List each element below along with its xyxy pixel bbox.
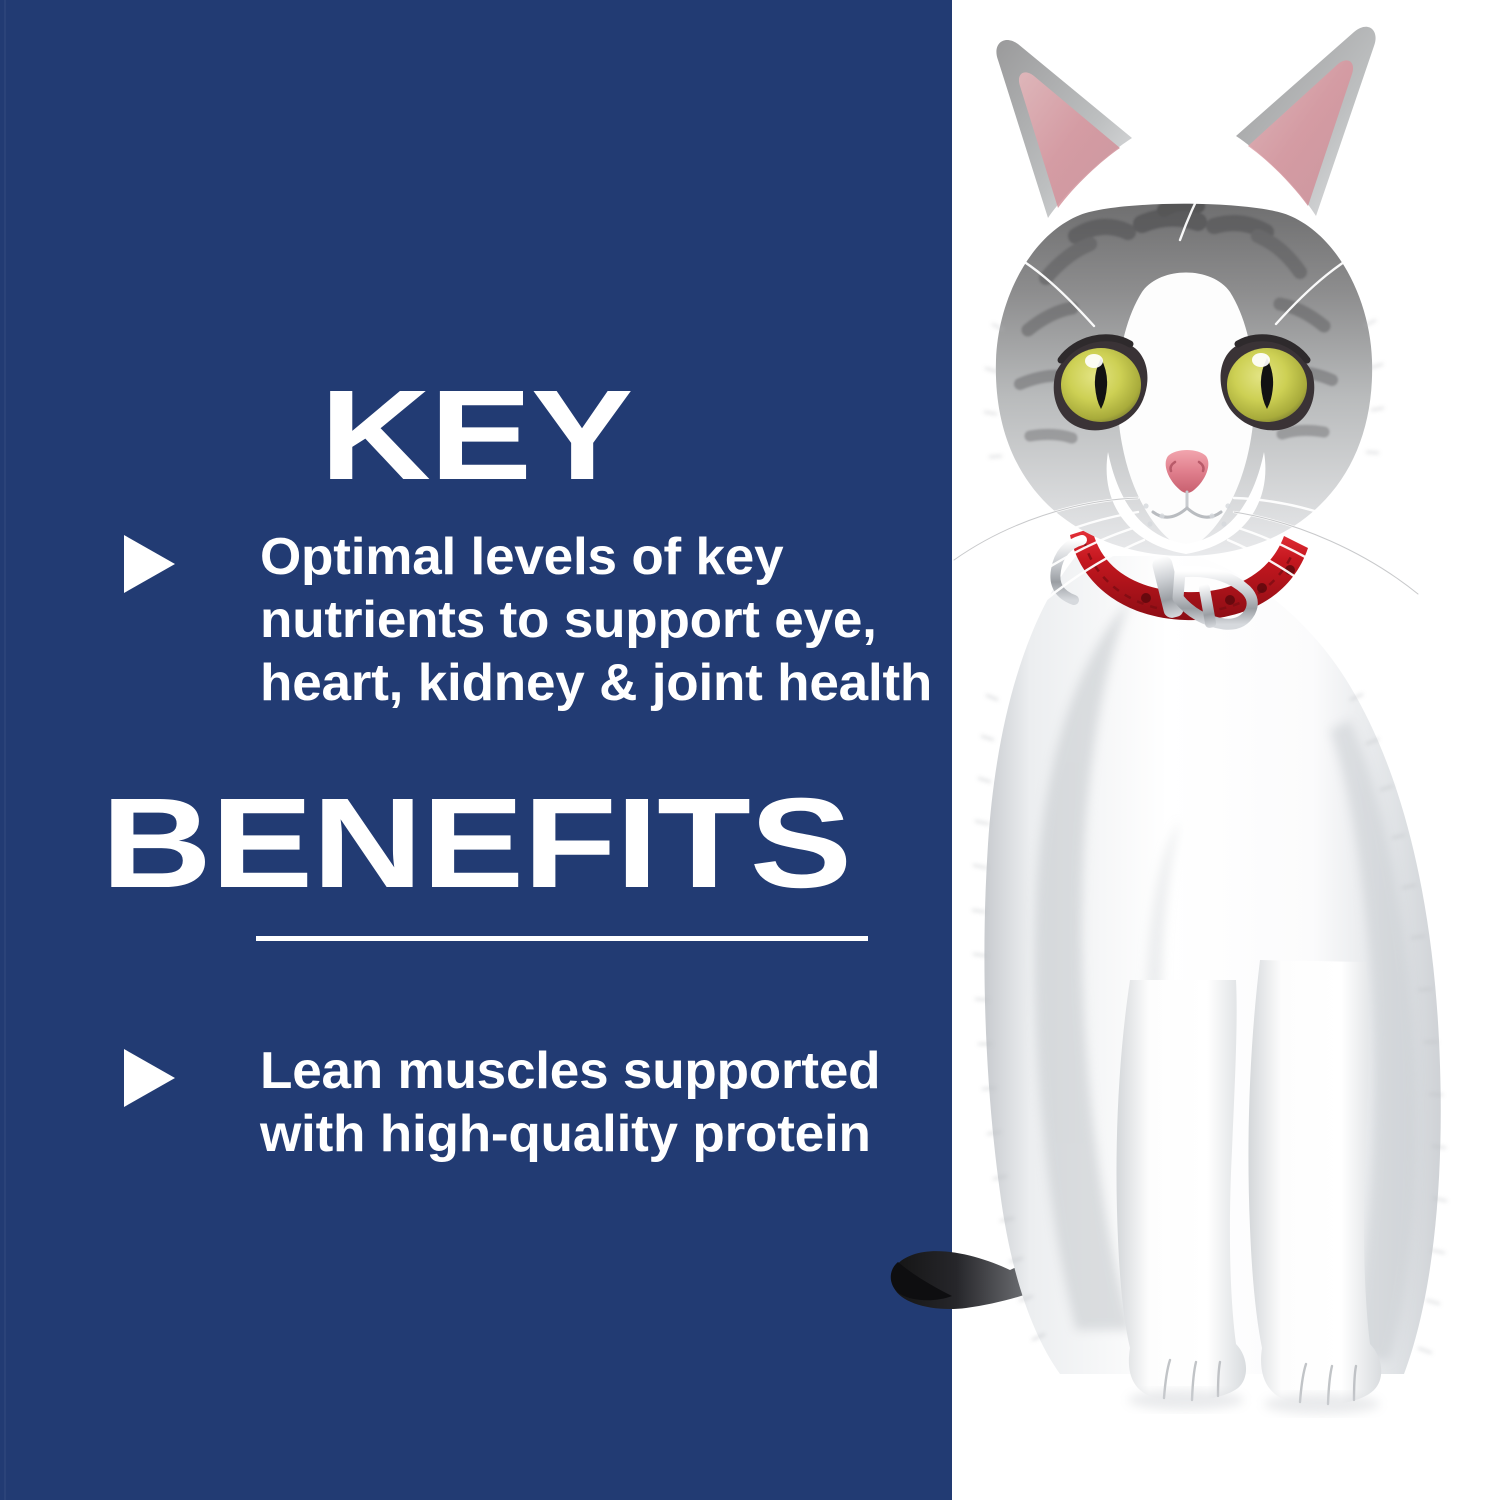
cat-front-legs — [1117, 960, 1382, 1414]
page-title-line-1: KEY — [0, 368, 1047, 504]
key-benefits-panel: KEY BENEFITS Optimal levels of key nutri… — [0, 0, 1500, 1500]
cat-neck — [1086, 448, 1292, 544]
divider — [256, 936, 868, 941]
benefit-item-label: Lean muscles supported with high-quality… — [260, 1040, 933, 1166]
cat-ear-right — [1236, 27, 1376, 216]
benefit-item: Lean muscles supported with high-quality… — [120, 1040, 920, 1166]
cat-eye-left — [1054, 338, 1148, 431]
triangle-right-icon — [124, 1049, 175, 1107]
cat-collar — [1055, 528, 1308, 629]
benefit-item-label: Optimal levels of key nutrients to suppo… — [260, 526, 933, 715]
cat-eye-right — [1221, 338, 1315, 431]
triangle-right-icon — [124, 535, 175, 593]
benefit-item: Optimal levels of key nutrients to suppo… — [120, 526, 920, 715]
collar-d-ring — [1055, 540, 1082, 600]
collar-buckle — [1151, 555, 1252, 629]
cat-nose — [1166, 450, 1209, 493]
page-title-line-2: BENEFITS — [0, 776, 1047, 912]
